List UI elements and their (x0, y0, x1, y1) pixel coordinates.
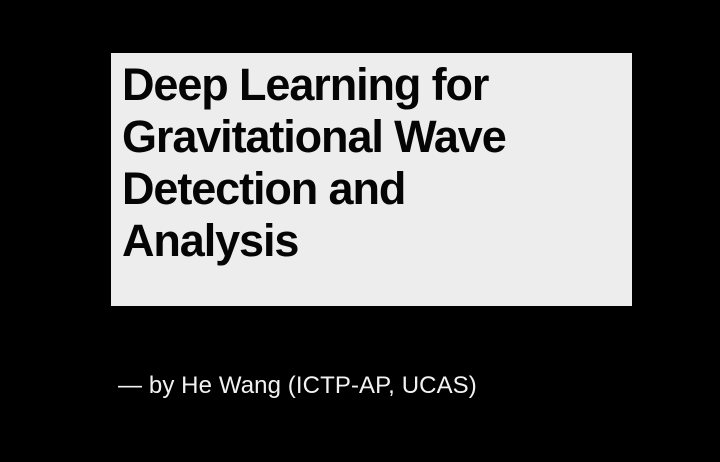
page-title: Deep Learning for Gravitational Wave Det… (122, 59, 622, 267)
presentation-slide: Deep Learning for Gravitational Wave Det… (0, 0, 720, 462)
title-card: Deep Learning for Gravitational Wave Det… (111, 53, 632, 306)
byline: — by He Wang (ICTP-AP, UCAS) (118, 371, 477, 401)
